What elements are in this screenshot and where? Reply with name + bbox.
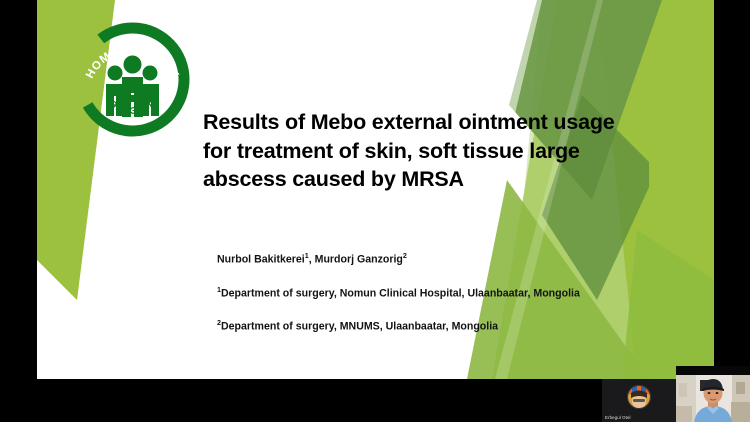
letterbox-bottom: [0, 379, 602, 422]
letterbox-right: [714, 0, 750, 366]
author-name-2: , Murdorj Ganzorig: [309, 254, 403, 266]
affiliation-2: 2Department of surgery, MNUMS, Ulaanbaat…: [217, 316, 667, 334]
affiliation-text-2: Department of surgery, MNUMS, Ulaanbaata…: [221, 321, 498, 333]
author-name-1: Nurbol Bakitkerei: [217, 254, 305, 266]
letterbox-left: [0, 0, 37, 422]
nomun-clinic-logo-icon: НОМУН КЛИНИК ЭМНЭЛЭГ: [75, 22, 190, 137]
participant-tile-right[interactable]: [676, 366, 750, 422]
author-names: Nurbol Bakitkerei1, Murdorj Ganzorig2: [217, 249, 667, 267]
author-sup-2: 2: [403, 251, 407, 260]
title-line-1: Results of Mebo external ointment usage: [203, 108, 623, 137]
participant-video-right: [676, 366, 750, 422]
title-line-2: for treatment of skin, soft tissue large: [203, 137, 623, 166]
slide-title: Results of Mebo external ointment usage …: [203, 108, 623, 194]
slide-authors-block: Nurbol Bakitkerei1, Murdorj Ganzorig2 1D…: [217, 249, 667, 350]
shared-slide[interactable]: НОМУН КЛИНИК ЭМНЭЛЭГ: [37, 0, 714, 379]
clinic-logo: НОМУН КЛИНИК ЭМНЭЛЭГ: [75, 22, 190, 137]
affiliation-1: 1Department of surgery, Nomun Clinical H…: [217, 283, 667, 301]
video-conference-screen: НОМУН КЛИНИК ЭМНЭЛЭГ: [0, 0, 750, 422]
participant-tile-left[interactable]: Erbegul Otel: [602, 379, 676, 422]
affiliation-text-1: Department of surgery, Nomun Clinical Ho…: [221, 287, 580, 299]
title-line-3: abscess caused by MRSA: [203, 165, 623, 194]
participant-name-left: Erbegul Otel: [605, 415, 631, 420]
